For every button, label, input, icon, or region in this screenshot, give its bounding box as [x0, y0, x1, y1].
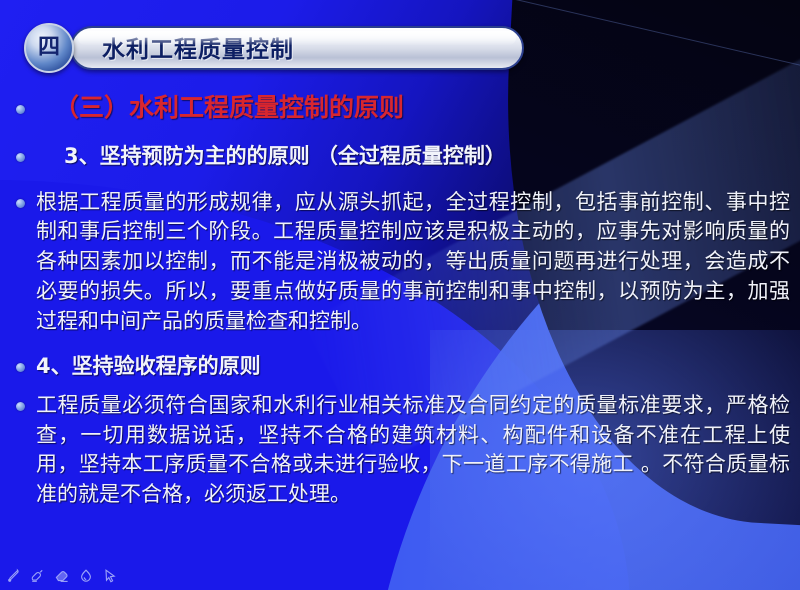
bullet-row-principle-4-heading: 4、坚持验收程序的原则	[0, 353, 800, 379]
page-title: 水利工程质量控制	[102, 28, 294, 72]
section-heading: （三）水利工程质量控制的原则	[36, 92, 790, 123]
slide-canvas: 水利工程质量控制 四 （三）水利工程质量控制的原则 3、坚持预防为主的的原则 （…	[0, 0, 800, 590]
header-pill: 水利工程质量控制	[70, 26, 524, 70]
principle-3-heading: 3、坚持预防为主的的原则 （全过程质量控制）	[64, 143, 790, 169]
bullet-marker-icon	[16, 199, 25, 208]
bullet-row-principle-4-body: 工程质量必须符合国家和水利行业相关标准及合同约定的质量标准要求，严格检查，一切用…	[0, 391, 800, 510]
principle-4-heading: 4、坚持验收程序的原则	[36, 353, 790, 379]
pen-icon[interactable]	[6, 568, 22, 584]
bullet-marker-icon	[16, 402, 25, 411]
bullet-row-section-heading: （三）水利工程质量控制的原则	[0, 92, 800, 123]
section-number-badge: 四	[24, 23, 74, 73]
annotation-toolbar[interactable]	[6, 568, 118, 584]
principle-4-body: 工程质量必须符合国家和水利行业相关标准及合同约定的质量标准要求，严格检查，一切用…	[36, 391, 790, 510]
ink-icon[interactable]	[78, 568, 94, 584]
slide-header: 水利工程质量控制 四	[24, 26, 524, 70]
bullet-row-principle-3-heading: 3、坚持预防为主的的原则 （全过程质量控制）	[0, 143, 800, 169]
pointer-icon[interactable]	[102, 568, 118, 584]
bullet-marker-icon	[16, 363, 25, 372]
eraser-icon[interactable]	[54, 568, 70, 584]
bullet-marker-icon	[16, 105, 25, 114]
section-number-label: 四	[38, 37, 60, 59]
highlighter-icon[interactable]	[30, 568, 46, 584]
bullet-marker-icon	[16, 153, 25, 162]
principle-3-body: 根据工程质量的形成规律，应从源头抓起，全过程控制，包括事前控制、事中控制和事后控…	[36, 188, 790, 337]
bullet-row-principle-3-body: 根据工程质量的形成规律，应从源头抓起，全过程控制，包括事前控制、事中控制和事后控…	[0, 188, 800, 337]
slide-body: （三）水利工程质量控制的原则 3、坚持预防为主的的原则 （全过程质量控制） 根据…	[0, 92, 800, 510]
